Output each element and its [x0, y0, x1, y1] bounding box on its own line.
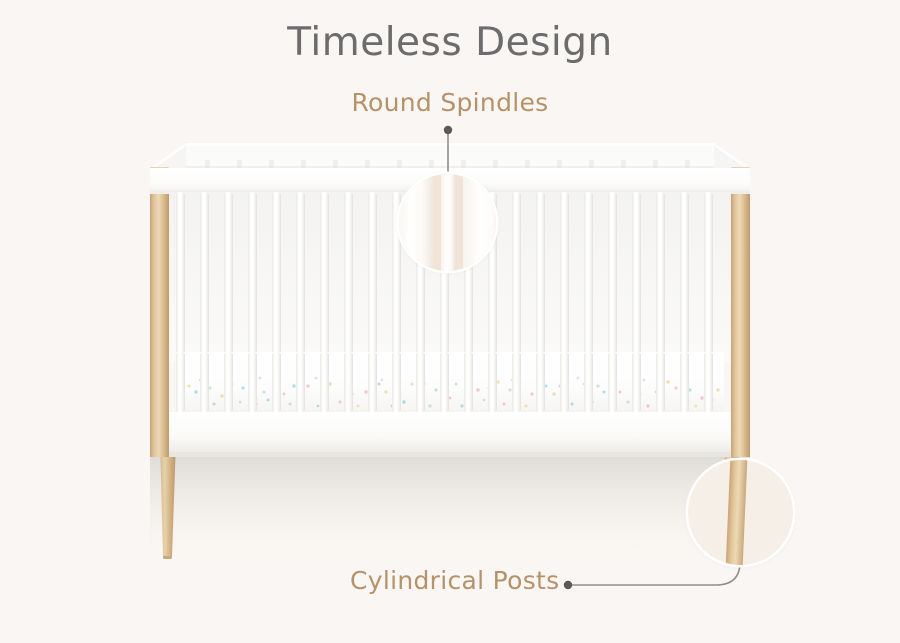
callout-circle-round-spindles: [399, 174, 496, 271]
crib-post-right: [731, 167, 750, 455]
crib-post-right-lower: [731, 412, 750, 457]
crib-spindles-front-overlay: [176, 352, 713, 412]
crib-back-rail: [186, 143, 714, 169]
callout-circle-cylindrical-posts: [688, 460, 793, 565]
crib-base-rail: [150, 412, 750, 457]
crib-post-left: [150, 167, 169, 455]
crib-post-left-lower: [150, 412, 169, 457]
crib-mattress: [176, 352, 724, 416]
crib-floor-shadow: [150, 455, 750, 560]
infographic-canvas: Timeless Design Round Spindles Cylindric…: [0, 0, 900, 643]
